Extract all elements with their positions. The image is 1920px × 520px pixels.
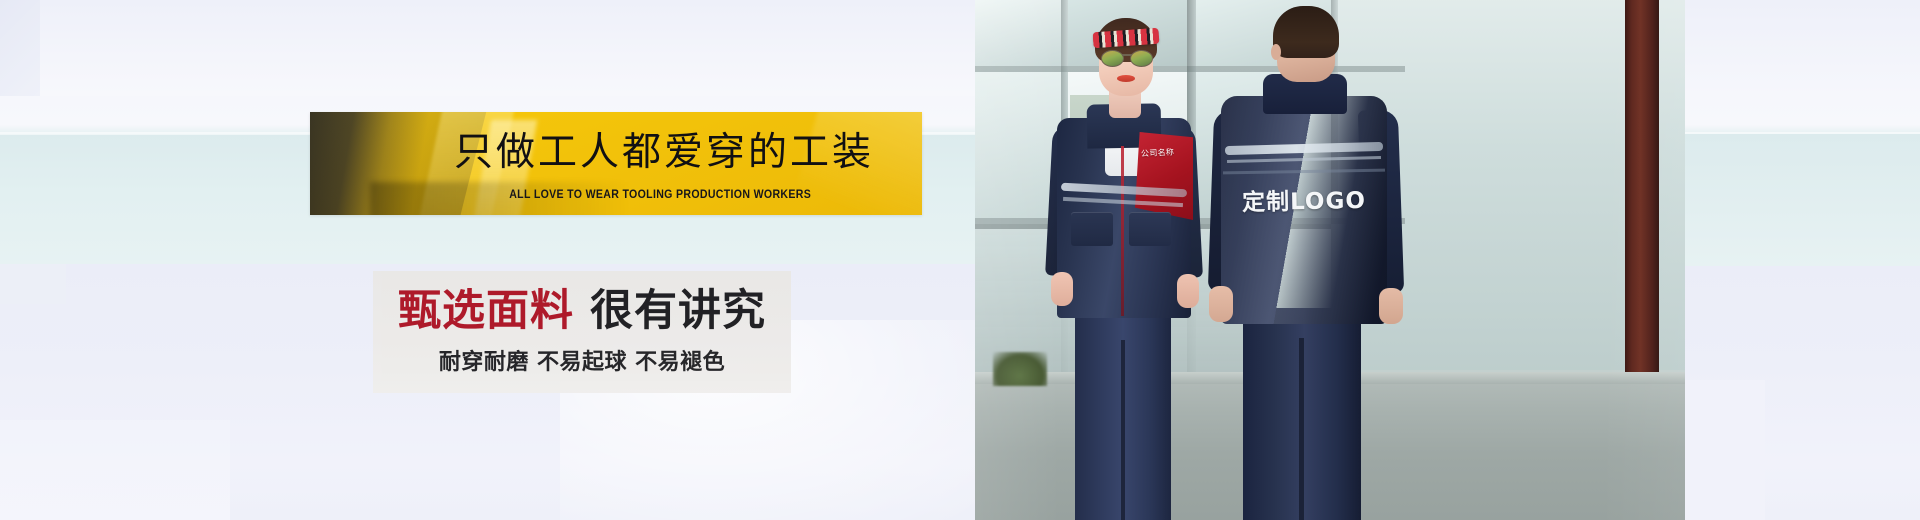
glass-pane (975, 72, 1061, 218)
slogan-line-one: 甄选面料 很有讲究 (373, 285, 791, 337)
man-hand-right (1379, 288, 1403, 324)
headline-subtitle: ALL LOVE TO WEAR TOOLING PRODUCTION WORK… (334, 188, 897, 202)
man-ear (1271, 44, 1281, 60)
headline-banner: 只做工人都爱穿的工装 ALL LOVE TO WEAR TOOLING PROD… (310, 112, 922, 215)
man-custom-logo-print: 定制LOGO (1223, 187, 1385, 218)
promo-banner: 只做工人都爱穿的工装 ALL LOVE TO WEAR TOOLING PROD… (0, 0, 1920, 520)
sunglass-lens-left (1101, 50, 1124, 67)
background-notch-bottom-left (0, 420, 230, 520)
background-panel-right-mid (1685, 134, 1920, 266)
man-hand-left (1209, 286, 1233, 322)
woman-sunglasses (1101, 50, 1153, 66)
headline-title: 只做工人都爱穿的工装 (310, 130, 922, 176)
photo-shrub (993, 352, 1047, 386)
background-panel-right-top (1685, 0, 1920, 96)
man-hair (1273, 6, 1339, 58)
slogan-highlight: 甄选面料 (398, 286, 574, 336)
man-trousers (1243, 308, 1361, 520)
woman-pocket-left (1071, 212, 1113, 246)
woman-hand-left (1051, 272, 1073, 306)
woman-lips (1117, 75, 1135, 82)
slogan-rest: 很有讲究 (574, 286, 766, 336)
woman-trousers (1075, 300, 1171, 520)
woman-jacket-zip (1121, 146, 1124, 316)
glass-pane (975, 0, 1061, 66)
background-notch-left (0, 264, 66, 304)
background-notch-right (1685, 380, 1765, 520)
woman-pocket-right (1129, 212, 1171, 246)
sunglass-lens-right (1130, 50, 1153, 67)
workwear-models-photo: 公司名称 定制LOGO (975, 0, 1685, 520)
slogan-line-two: 耐穿耐磨 不易起球 不易褪色 (373, 349, 791, 377)
woman-hand-right (1177, 274, 1199, 308)
woman-red-chest-panel (1135, 132, 1193, 220)
slogan-block: 甄选面料 很有讲究 耐穿耐磨 不易起球 不易褪色 (373, 271, 791, 393)
